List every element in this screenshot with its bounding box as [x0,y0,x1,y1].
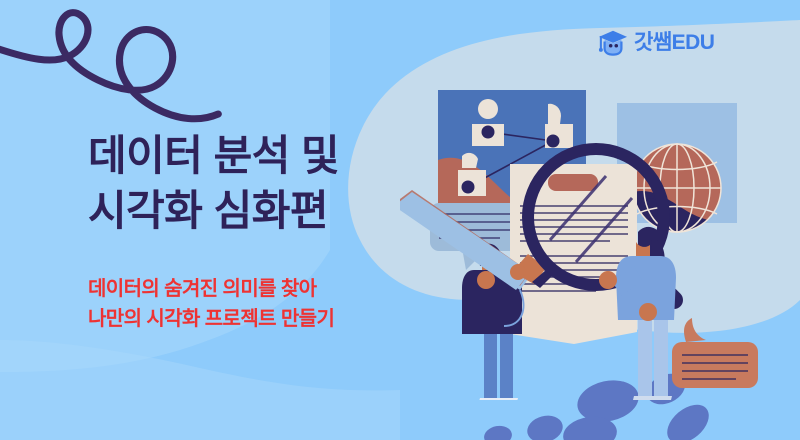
page-subtitle-line-2: 나만의 시각화 프로젝트 만들기 [88,304,334,334]
graduation-cap-icon [598,28,628,56]
globe-grid [633,144,721,232]
page-title: 데이터 분석 및 시각화 심화편 [88,128,339,239]
page-title-line-2: 시각화 심화편 [88,183,339,238]
data-analysis-illustration [400,80,800,400]
brand-logo[interactable]: 갓쌤EDU [598,28,714,56]
page-subtitle: 데이터의 숨겨진 의미를 찾아 나만의 시각화 프로젝트 만들기 [88,274,334,334]
course-banner: 갓쌤EDU 데이터 분석 및 시각화 심화편 데이터의 숨겨진 의미를 찾아 나… [0,0,800,440]
speech-bubble-terracotta [672,318,758,388]
page-title-line-1: 데이터 분석 및 [88,128,339,183]
document-header-bar [548,174,598,191]
page-subtitle-line-1: 데이터의 숨겨진 의미를 찾아 [88,274,334,304]
brand-logo-text: 갓쌤EDU [634,32,714,53]
